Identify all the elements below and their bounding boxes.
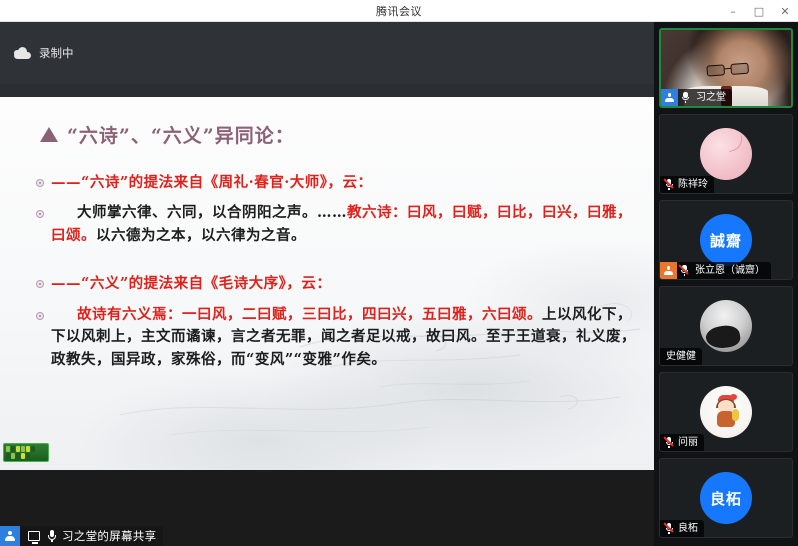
- cartoon-girl-icon: [711, 395, 741, 429]
- participant-tile-1[interactable]: 陈祥玲: [659, 114, 793, 194]
- presentation-slide: “六诗”、“六义”异同论： ——“六诗”的提法来自《周礼·春官·大师》，云： 大…: [0, 97, 654, 470]
- widget-row-top: [6, 446, 46, 452]
- ring-bullet-icon: [36, 312, 44, 320]
- window-controls: – □ ✕: [720, 0, 798, 22]
- widget-row-bottom: [6, 453, 46, 459]
- ring-bullet-icon: [36, 280, 44, 288]
- widget-cell-icon[interactable]: [16, 446, 20, 452]
- cloud-record-icon: [14, 47, 31, 59]
- maximize-icon[interactable]: □: [746, 0, 772, 22]
- quote-row-2: 故诗有六义焉：一曰风，二曰赋，三曰比，四曰兴，五曰雅，六曰颂。上以风化下，下以风…: [36, 304, 636, 371]
- share-status-text: 习之堂的屏幕共享: [60, 528, 156, 544]
- quote-part: 以六德为之本，以六律为之音。: [96, 227, 306, 244]
- participant-name-1: 陈祥玲: [675, 176, 714, 193]
- participant-tile-2[interactable]: 誠齋 张立恩（诚齋）: [659, 200, 793, 280]
- recording-label: 录制中: [39, 45, 74, 61]
- participant-name-bar-5: 良柘: [660, 520, 704, 537]
- microphone-muted-icon[interactable]: [660, 520, 675, 537]
- shared-screen-stage: 录制中 “六诗”、“六义”异同论：: [0, 22, 654, 546]
- participant-tile-3[interactable]: 史健健: [659, 286, 793, 366]
- slide-block-2: ——“六义”的提法来自《毛诗大序》，云： 故诗有六义焉：一曰风，二曰赋，三曰比，…: [36, 273, 636, 371]
- glasses-icon: [706, 63, 753, 77]
- widget-cell-icon[interactable]: [11, 453, 15, 459]
- screen-share-toolbar-widget[interactable]: [3, 443, 49, 462]
- participant-name-5: 良柘: [675, 520, 704, 537]
- recording-bar: 录制中: [0, 22, 654, 84]
- host-badge-icon: [0, 526, 20, 546]
- lead-text-1: ——“六诗”的提法来自《周礼·春官·大师》，云：: [51, 172, 373, 194]
- participant-avatar-5: 良柘: [700, 472, 752, 524]
- quote-row-1: 大师掌六律、六同，以合阴阳之声。……教六诗：曰风，曰赋，曰比，曰兴，曰雅，曰颂。…: [36, 202, 636, 247]
- slide-title-text: “六诗”、“六义”异同论：: [67, 121, 295, 148]
- ring-bullet-icon: [36, 210, 44, 218]
- participant-name-bar-4: 问丽: [660, 434, 704, 451]
- minimize-icon[interactable]: –: [720, 0, 746, 22]
- widget-cell-icon[interactable]: [26, 446, 30, 452]
- microphone-muted-icon[interactable]: [677, 262, 692, 279]
- quote-text-1: 大师掌六律、六同，以合阴阳之声。……教六诗：曰风，曰赋，曰比，曰兴，曰雅，曰颂。…: [51, 202, 636, 247]
- cohost-badge-icon: [660, 262, 677, 279]
- widget-cell-icon[interactable]: [31, 446, 35, 452]
- window-title: 腾讯会议: [376, 3, 422, 19]
- meeting-window: 腾讯会议 – □ ✕ 录制中: [0, 0, 798, 546]
- participant-name-0: 习之堂: [693, 89, 732, 106]
- microphone-icon: [48, 530, 56, 542]
- slide-block-1: ——“六诗”的提法来自《周礼·春官·大师》，云： 大师掌六律、六同，以合阴阳之声…: [36, 172, 636, 247]
- quote-text-2: 故诗有六义焉：一曰风，二曰赋，三曰比，四曰兴，五曰雅，六曰颂。上以风化下，下以风…: [51, 304, 636, 371]
- participant-tile-4[interactable]: 问丽: [659, 372, 793, 452]
- participant-name-bar-2: 张立恩（诚齋）: [660, 262, 771, 279]
- screen-share-icon: [28, 531, 40, 541]
- widget-cell-icon[interactable]: [6, 446, 10, 452]
- participant-avatar-3: [700, 300, 752, 352]
- microphone-muted-icon[interactable]: [660, 434, 675, 451]
- participant-tile-5[interactable]: 良柘 良柘: [659, 458, 793, 538]
- participant-name-bar-0: 习之堂: [661, 89, 732, 106]
- ring-bullet-icon: [36, 179, 44, 187]
- close-icon[interactable]: ✕: [772, 0, 798, 22]
- share-status-bar: 习之堂的屏幕共享: [0, 526, 163, 546]
- quote-part-highlight: 故诗有六义焉：一曰风，二曰赋，三曰比，四曰兴，五曰雅，六曰颂。: [77, 306, 542, 323]
- participant-name-bar-1: 陈祥玲: [660, 176, 714, 193]
- participant-filmstrip[interactable]: 习之堂 陈祥玲 誠齋 张立恩（诚齋）: [654, 22, 798, 546]
- participant-name-2: 张立恩（诚齋）: [692, 262, 771, 279]
- widget-cell-icon[interactable]: [21, 453, 25, 459]
- lead-row-2: ——“六义”的提法来自《毛诗大序》，云：: [36, 273, 636, 295]
- title-bar: 腾讯会议 – □ ✕: [0, 0, 798, 22]
- widget-cell-icon[interactable]: [16, 453, 20, 459]
- participant-name-3: 史健健: [660, 348, 702, 365]
- widget-cell-icon[interactable]: [26, 453, 30, 459]
- lead-text-2: ——“六义”的提法来自《毛诗大序》，云：: [51, 273, 331, 295]
- participant-tile-0[interactable]: 习之堂: [659, 28, 793, 108]
- participant-avatar-1: [700, 128, 752, 180]
- participant-name-4: 问丽: [675, 434, 704, 451]
- quote-part: 大师掌六律、六同，以合阴阳之声。……: [77, 204, 347, 221]
- widget-cell-icon[interactable]: [21, 446, 25, 452]
- widget-cell-icon[interactable]: [11, 446, 15, 452]
- participant-name-bar-3: 史健健: [660, 348, 702, 365]
- microphone-on-icon[interactable]: [678, 89, 693, 106]
- lead-row-1: ——“六诗”的提法来自《周礼·春官·大师》，云：: [36, 172, 636, 194]
- recording-indicator: 录制中: [14, 45, 74, 61]
- widget-cell-icon[interactable]: [6, 453, 10, 459]
- microphone-muted-icon[interactable]: [660, 176, 675, 193]
- slide-title: “六诗”、“六义”异同论：: [40, 121, 636, 148]
- triangle-bullet-icon: [40, 127, 58, 142]
- stage-lower-letterbox: 习之堂的屏幕共享: [0, 470, 654, 546]
- participant-avatar-4: [700, 386, 752, 438]
- host-badge-icon: [661, 89, 678, 106]
- participant-avatar-2: 誠齋: [700, 214, 752, 266]
